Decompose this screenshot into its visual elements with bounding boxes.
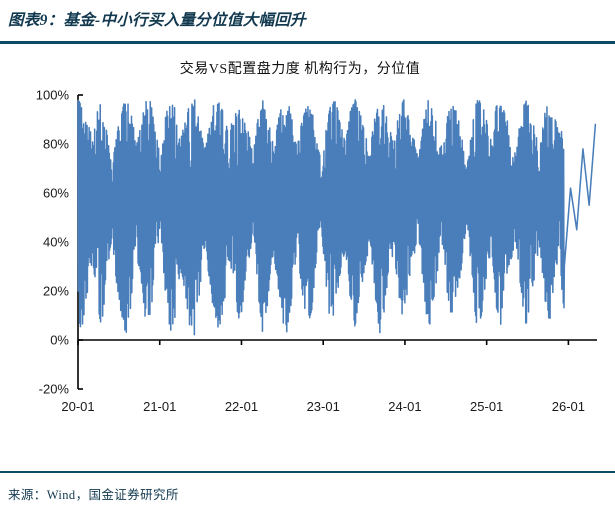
x-axis-tick-label: 22-01 bbox=[225, 399, 258, 414]
y-axis-tick-labels: 100%80%60%40%20%0%-20% bbox=[36, 88, 70, 397]
y-axis-tick-label: 80% bbox=[43, 137, 69, 152]
y-axis-tick-label: 60% bbox=[43, 186, 69, 201]
x-axis-tick-label: 25-01 bbox=[470, 399, 503, 414]
plot-area: 100%80%60%40%20%0%-20% 20-0121-0122-0123… bbox=[0, 44, 615, 459]
x-axis-tick-label: 21-01 bbox=[143, 399, 176, 414]
page-title: 图表9：基金-中小行买入量分位值大幅回升 bbox=[8, 8, 306, 30]
y-axis-tick-label: 100% bbox=[36, 88, 70, 103]
data-series-line bbox=[78, 100, 595, 335]
y-axis-tick-label: 20% bbox=[43, 284, 69, 299]
y-axis-tick-label: 40% bbox=[43, 235, 69, 250]
x-axis-tick-label: 26-01 bbox=[552, 399, 585, 414]
line-chart-svg: 100%80%60%40%20%0%-20% 20-0121-0122-0123… bbox=[0, 44, 615, 459]
footer-divider bbox=[0, 471, 615, 473]
figure-header: 图表9：基金-中小行买入量分位值大幅回升 bbox=[0, 0, 615, 44]
chart-container: 交易VS配置盘力度 机构行为，分位值 100%80%60%40%20%0%-20… bbox=[0, 44, 615, 459]
x-axis-tick-labels: 20-0121-0122-0123-0124-0125-0126-01 bbox=[61, 399, 585, 414]
y-axis-tick-label: -20% bbox=[39, 382, 70, 397]
y-axis-tick-label: 0% bbox=[50, 333, 69, 348]
x-axis-tick-label: 23-01 bbox=[307, 399, 340, 414]
x-axis-tick-label: 20-01 bbox=[61, 399, 94, 414]
x-axis-tick-label: 24-01 bbox=[388, 399, 421, 414]
source-note: 来源：Wind，国金证券研究所 bbox=[8, 484, 179, 503]
